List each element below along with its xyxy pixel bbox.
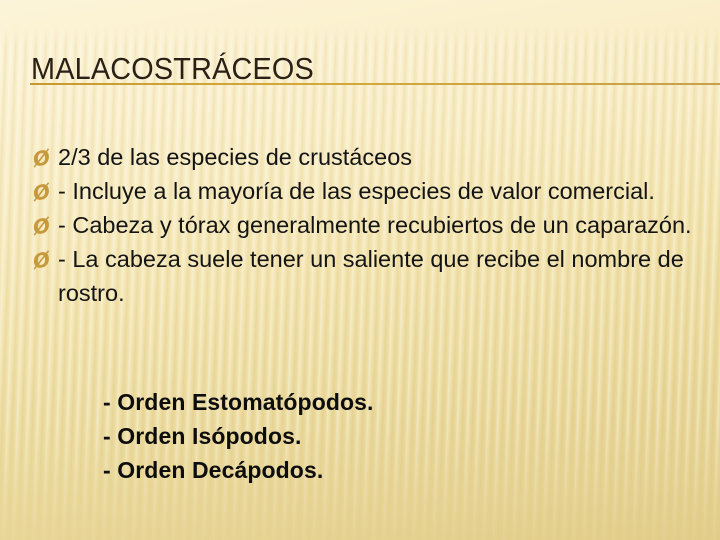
list-item-text: - Incluye a la mayoría de las especies d… [58,178,655,204]
presentation-slide: MALACOSTRÁCEOS Ø 2/3 de las especies de … [0,0,720,540]
title-underline-rule [30,83,720,85]
list-item: Ø 2/3 de las especies de crustáceos [33,140,693,174]
order-item: - Orden Decápodos. [103,453,374,487]
pen-flourish-bullet-icon: Ø [30,141,56,175]
pen-flourish-bullet-icon: Ø [30,209,56,243]
list-item-text: - La cabeza suele tener un saliente que … [58,246,684,306]
pen-flourish-bullet-icon: Ø [30,243,56,277]
bullet-list: Ø 2/3 de las especies de crustáceos Ø - … [33,140,693,310]
list-item: Ø - Cabeza y tórax generalmente recubier… [33,208,693,242]
list-item-text: - Cabeza y tórax generalmente recubierto… [58,212,692,238]
list-item: Ø - Incluye a la mayoría de las especies… [33,174,693,208]
order-sublist: - Orden Estomatópodos. - Orden Isópodos.… [103,385,374,487]
order-item: - Orden Estomatópodos. [103,385,374,419]
order-item: - Orden Isópodos. [103,419,374,453]
pen-flourish-bullet-icon: Ø [30,175,56,209]
slide-title: MALACOSTRÁCEOS [31,52,314,86]
list-item: Ø - La cabeza suele tener un saliente qu… [33,242,693,310]
list-item-text: 2/3 de las especies de crustáceos [58,144,412,170]
